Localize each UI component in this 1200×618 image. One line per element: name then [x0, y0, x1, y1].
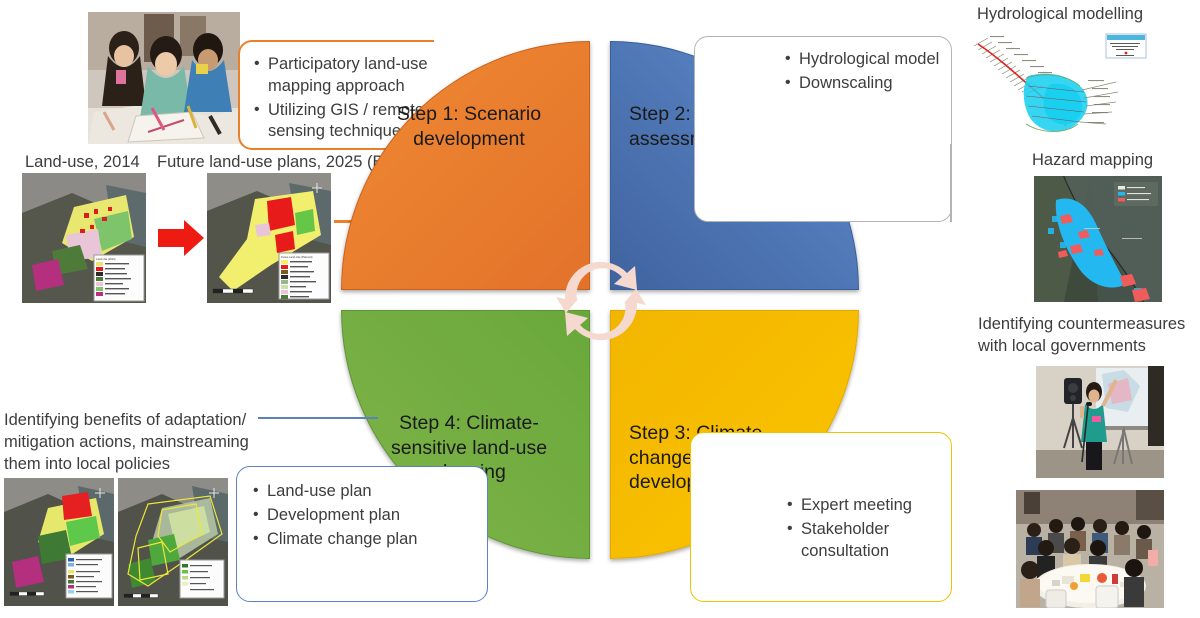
caption-benefits: Identifying benefits of adaptation/ miti…	[4, 410, 266, 476]
diagram-canvas: Participatory land-use mapping approach …	[0, 0, 1200, 618]
callout-step2-item: Downscaling	[785, 73, 951, 95]
connector-line-gray	[950, 144, 952, 222]
photo-presentation	[1036, 366, 1164, 478]
caption-hydrological-modelling: Hydrological modelling	[977, 4, 1143, 26]
callout-step3-list: Expert meeting Stakeholder consultation	[787, 495, 951, 562]
curved-arrow-right-icon	[556, 262, 637, 313]
map-mitigation-benefits	[118, 478, 228, 606]
photo-participatory-mapping	[88, 12, 240, 144]
callout-step2-item: Hydrological model	[785, 49, 951, 71]
callout-step4-list: Land-use plan Development plan Climate c…	[253, 481, 487, 550]
callout-step4-item: Land-use plan	[253, 481, 487, 503]
callout-step4-item: Climate change plan	[253, 529, 487, 551]
image-hydrological-model	[966, 30, 1150, 140]
wheel-quadrant-step1-label: Step 1: Scenario development	[364, 102, 574, 151]
image-hazard-map	[1034, 176, 1162, 302]
map-adaptation-benefits	[4, 478, 114, 606]
callout-step4: Land-use plan Development plan Climate c…	[236, 466, 488, 602]
map-future-land-use-2025: Future Land-Use (Planned)	[207, 173, 331, 303]
map-land-use-2014: Land-Use (2014)	[22, 173, 146, 303]
callout-step2-list: Hydrological model Downscaling	[785, 49, 951, 95]
photo-stakeholder-workshop	[1016, 490, 1164, 608]
callout-step3-item: Expert meeting	[787, 495, 951, 517]
caption-land-use-2014: Land-use, 2014	[25, 152, 140, 174]
curved-arrow-left-icon	[565, 289, 646, 340]
connector-line-blue	[258, 417, 378, 419]
callout-step4-item: Development plan	[253, 505, 487, 527]
cycle-arrows	[531, 231, 671, 371]
caption-countermeasures: Identifying countermeasures with local g…	[978, 314, 1193, 358]
svg-text:Land-Use (2014): Land-Use (2014)	[96, 257, 116, 261]
callout-step2: Hydrological model Downscaling	[694, 36, 952, 222]
callout-step3: Expert meeting Stakeholder consultation	[690, 432, 952, 602]
svg-text:Future Land-Use (Planned): Future Land-Use (Planned)	[281, 255, 313, 259]
callout-step3-item: Stakeholder consultation	[787, 519, 951, 563]
right-arrow-icon	[158, 218, 204, 258]
caption-hazard-mapping: Hazard mapping	[1032, 150, 1153, 172]
